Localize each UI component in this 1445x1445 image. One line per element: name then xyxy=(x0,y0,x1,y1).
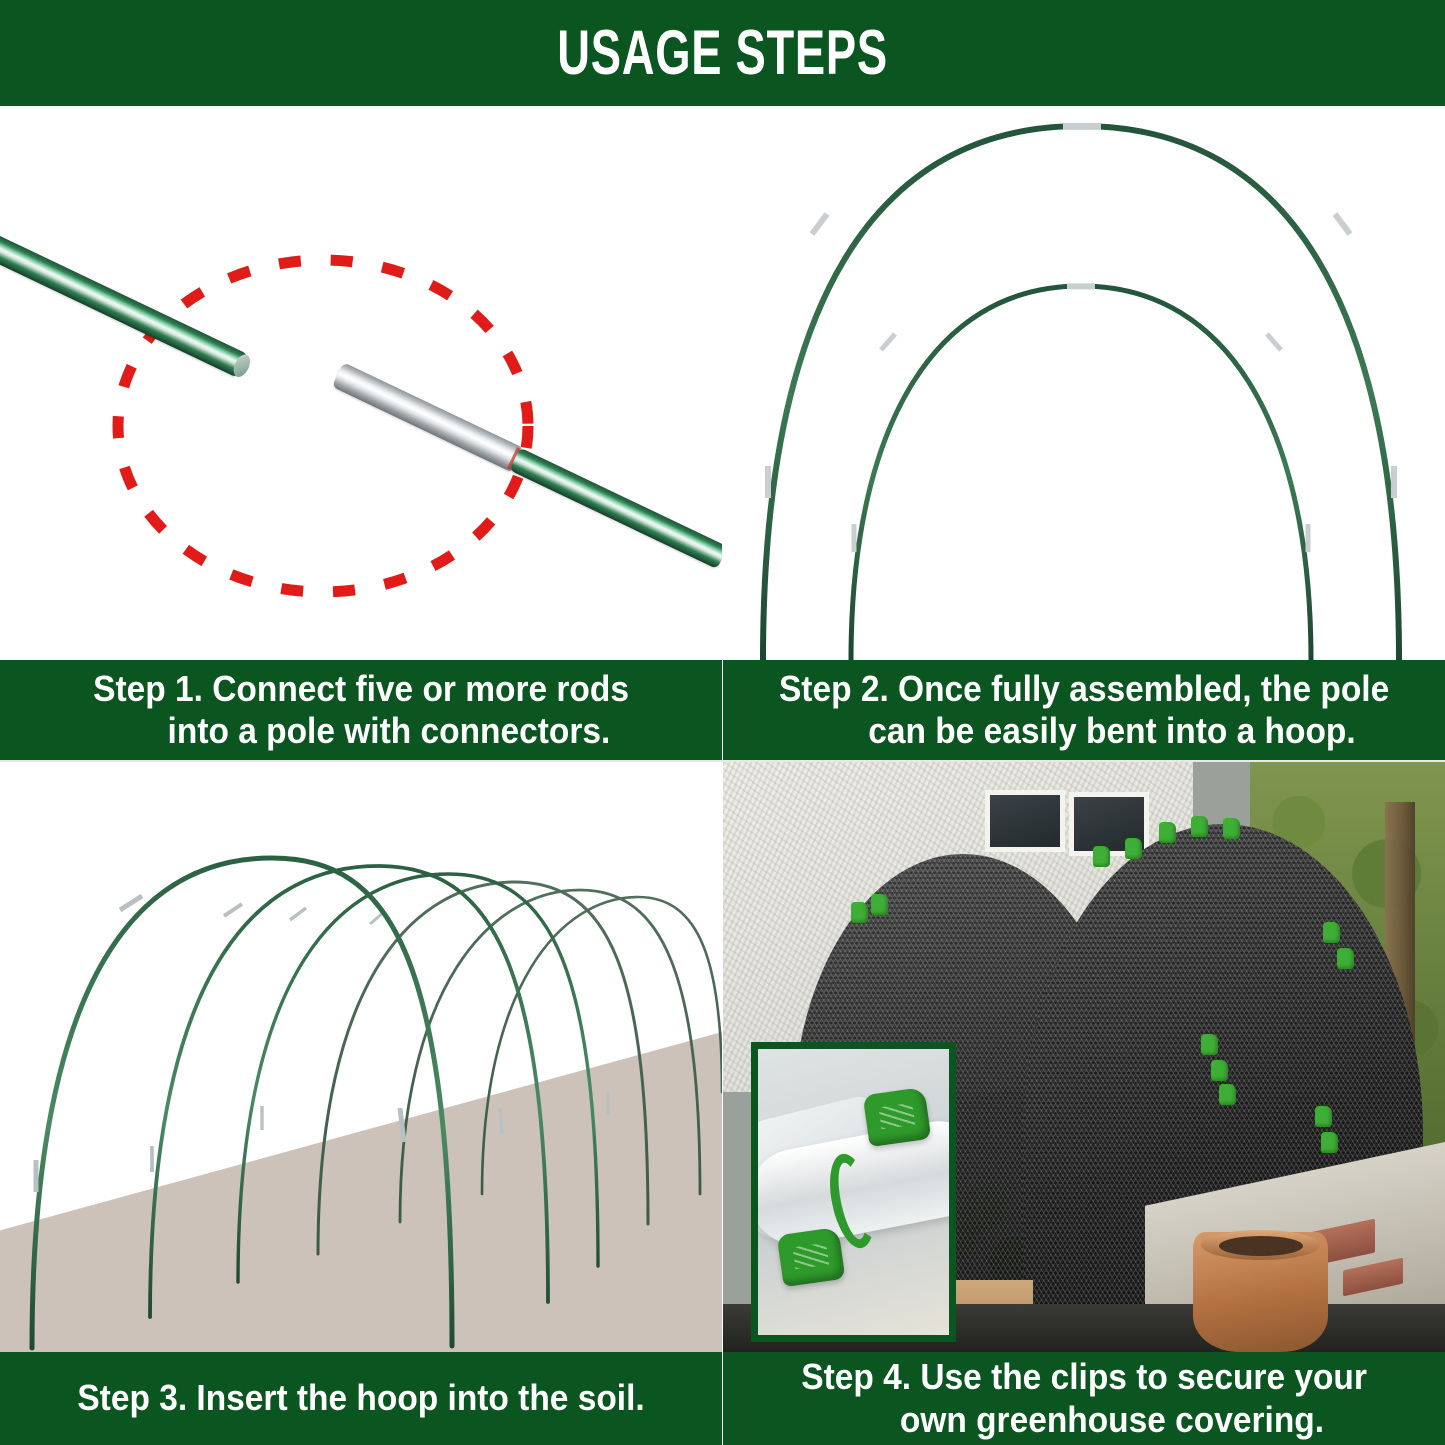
step-3-caption: Step 3. Insert the hoop into the soil. xyxy=(0,1352,722,1445)
step-2-caption-line-1: Step 2. Once fully assembled, the pole xyxy=(779,668,1389,710)
green-clip xyxy=(871,894,888,915)
green-clip xyxy=(1211,1060,1228,1081)
green-clip xyxy=(1321,1132,1338,1153)
step-1-illustration-panel xyxy=(0,106,722,660)
hoop-row-diagram xyxy=(0,762,722,1352)
green-clip xyxy=(851,902,868,923)
green-clip xyxy=(1219,1084,1236,1105)
step-1-caption-line-1: Step 1. Connect five or more rods xyxy=(93,668,629,710)
step-3-illustration-panel xyxy=(0,762,722,1352)
green-clip-closeup xyxy=(863,1087,932,1147)
green-clip xyxy=(1191,816,1208,837)
green-clip xyxy=(1337,948,1354,969)
green-clip xyxy=(1125,838,1142,859)
greenhouse-photo xyxy=(723,762,1445,1352)
green-clip-closeup xyxy=(777,1227,846,1287)
step-4-caption: Step 4. Use the clips to secure your own… xyxy=(723,1352,1445,1445)
inner-hoop xyxy=(851,286,1311,660)
hoop-3 xyxy=(238,874,598,1282)
house-window xyxy=(985,790,1065,852)
header-bar: USAGE STEPS xyxy=(0,0,1445,106)
step-2-caption: Step 2. Once fully assembled, the pole c… xyxy=(723,660,1445,760)
step-2-caption-line-2: can be easily bent into a hoop. xyxy=(812,710,1355,752)
outer-hoop xyxy=(763,126,1399,660)
clip-closeup-inset xyxy=(751,1042,956,1342)
green-rod-segment xyxy=(509,448,722,570)
step-4-photo-panel xyxy=(723,762,1445,1352)
pot-soil xyxy=(1219,1236,1303,1256)
hoop-6 xyxy=(482,897,722,1194)
step-4-caption-line-1: Step 4. Use the clips to secure your xyxy=(801,1356,1367,1398)
page-title: USAGE STEPS xyxy=(557,22,888,85)
green-clip xyxy=(1223,818,1240,839)
green-clip xyxy=(1323,922,1340,943)
step-3-caption-line-1: Step 3. Insert the hoop into the soil. xyxy=(77,1377,644,1419)
infographic-page: USAGE STEPS xyxy=(0,0,1445,1445)
green-clip xyxy=(1093,846,1110,867)
step-1-caption-line-2: into a pole with connectors. xyxy=(112,710,611,752)
bent-hoops-diagram xyxy=(723,106,1445,660)
step-1-caption: Step 1. Connect five or more rods into a… xyxy=(0,660,722,760)
step-2-illustration-panel xyxy=(723,106,1445,660)
green-clip xyxy=(1201,1034,1218,1055)
rod-connector-diagram xyxy=(0,106,722,660)
green-clip xyxy=(1315,1106,1332,1127)
step-4-caption-line-2: own greenhouse covering. xyxy=(844,1399,1324,1441)
green-clip xyxy=(1159,822,1176,843)
